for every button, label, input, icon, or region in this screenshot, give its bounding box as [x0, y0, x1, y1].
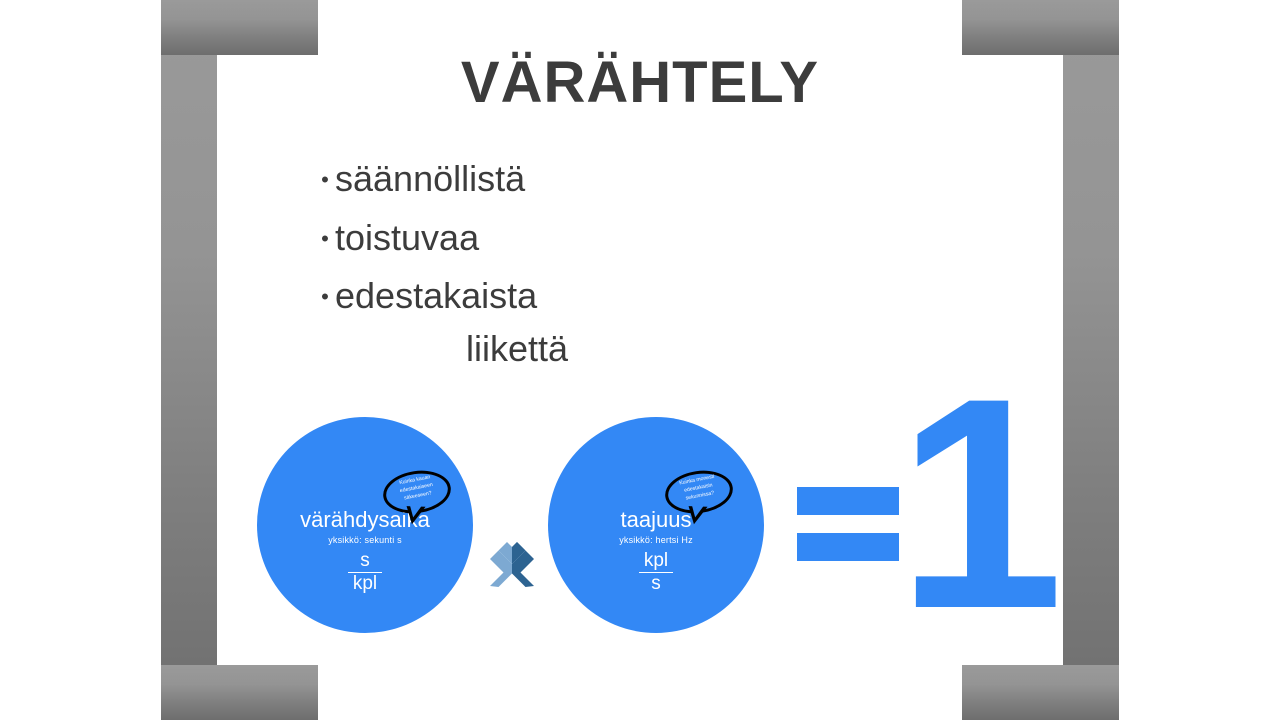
- bullet-dot-icon: •: [315, 228, 335, 250]
- equals-one-result: 1: [789, 401, 1019, 641]
- slide-canvas: VÄRÄHTELY • säännöllistä • toistuvaa • e…: [0, 0, 1280, 720]
- equals-sign-top-bar: [797, 487, 899, 515]
- result-value-one: 1: [897, 353, 1064, 653]
- fraction-denominator-left: kpl: [353, 574, 377, 594]
- fraction-denominator-right: s: [651, 574, 661, 594]
- list-item-label: edestakaista: [335, 272, 537, 321]
- bullet-list-tail-word: liikettä: [466, 328, 568, 370]
- concept-circle-taajuus: taajuus yksikkö: hertsi Hz kpl s Kuinka …: [548, 417, 764, 633]
- bullet-dot-icon: •: [315, 169, 335, 191]
- speech-bubble-text-right: Kuinka monesti edestakaisin sekunnissa?: [670, 472, 727, 505]
- concept-name-left: värähdysaika: [257, 509, 473, 531]
- concept-circle-varahdysaika: värähdysaika yksikkö: sekunti s s kpl Ku…: [257, 417, 473, 633]
- concept-unit-right: yksikkö: hertsi Hz: [548, 536, 764, 545]
- speech-bubble-text-left: Kuinka kauan edestakaiseen säkeeseen?: [388, 472, 445, 505]
- multiply-icon: [489, 541, 535, 587]
- bullet-dot-icon: •: [315, 286, 335, 308]
- speech-bubble-tail-right: [688, 506, 708, 525]
- frame-bracket-right-vertical: [1063, 0, 1119, 720]
- speech-bubble-tail-left: [406, 506, 426, 525]
- page-title: VÄRÄHTELY: [217, 53, 1063, 114]
- list-item-label: säännöllistä: [335, 155, 525, 204]
- bullet-list: • säännöllistä • toistuvaa • edestakaist…: [315, 155, 935, 331]
- concept-fraction-right: kpl s: [548, 551, 764, 594]
- concept-name-right: taajuus: [548, 509, 764, 531]
- fraction-numerator-left: s: [360, 551, 370, 571]
- list-item: • säännöllistä: [315, 155, 935, 204]
- frame-bracket-top-left-arm: [161, 0, 318, 55]
- frame-bracket-left-vertical: [161, 0, 217, 720]
- concept-fraction-left: s kpl: [257, 551, 473, 594]
- equals-sign-bottom-bar: [797, 533, 899, 561]
- fraction-numerator-right: kpl: [644, 551, 668, 571]
- list-item-label: toistuvaa: [335, 214, 479, 263]
- concept-unit-left: yksikkö: sekunti s: [257, 536, 473, 545]
- list-item: • edestakaista: [315, 272, 935, 321]
- list-item: • toistuvaa: [315, 214, 935, 263]
- frame-bracket-bottom-left-arm: [161, 665, 318, 720]
- slide-content-area: VÄRÄHTELY • säännöllistä • toistuvaa • e…: [217, 55, 1063, 665]
- frame-bracket-bottom-right-arm: [962, 665, 1119, 720]
- frame-bracket-top-right-arm: [962, 0, 1119, 55]
